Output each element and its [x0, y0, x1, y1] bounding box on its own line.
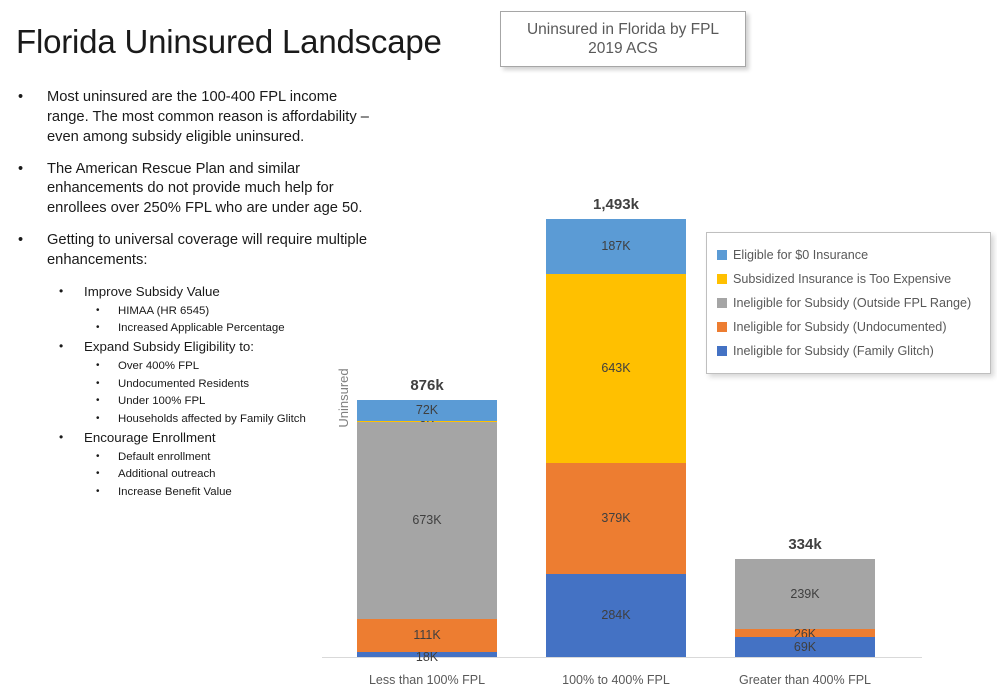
- bullet-dot-icon: •: [14, 338, 84, 354]
- bar-segment-label: 111K: [413, 629, 440, 642]
- bar-segment: 673K: [357, 422, 497, 619]
- x-axis-baseline: [322, 657, 922, 658]
- bullet-dot-icon: •: [14, 429, 84, 445]
- bullet-dot-icon: •: [14, 160, 47, 180]
- bar-segment: 18K: [357, 652, 497, 657]
- legend-label: Eligible for $0 Insurance: [733, 248, 868, 262]
- bullet-dot-icon: •: [14, 412, 118, 426]
- bar-segment-label: 18K: [416, 651, 438, 664]
- chart-title-line-2: 2019 ACS: [588, 39, 658, 58]
- bar-stack: 187K643K379K284K100% to 400% FPL: [546, 219, 686, 657]
- bullet-text: Additional outreach: [118, 467, 216, 482]
- x-axis-category-label: Greater than 400% FPL: [717, 673, 893, 687]
- bullet-dot-icon: •: [14, 231, 47, 251]
- legend-item[interactable]: Subsidized Insurance is Too Expensive: [717, 267, 990, 291]
- bar-segment: 284K: [546, 574, 686, 657]
- chart-title-line-1: Uninsured in Florida by FPL: [527, 20, 719, 39]
- bullet-dot-icon: •: [14, 88, 47, 108]
- bullet-dot-icon: •: [14, 394, 118, 408]
- bullet-item: •Most uninsured are the 100-400 FPL inco…: [14, 88, 374, 148]
- bullet-text: Increase Benefit Value: [118, 485, 232, 500]
- page-title: Florida Uninsured Landscape: [16, 23, 442, 61]
- bullet-text: Encourage Enrollment: [84, 429, 216, 447]
- bullet-text: Improve Subsidy Value: [84, 283, 220, 301]
- bullet-text: Over 400% FPL: [118, 359, 199, 374]
- bullet-dot-icon: •: [14, 359, 118, 373]
- legend-label: Ineligible for Subsidy (Outside FPL Rang…: [733, 296, 971, 310]
- bar-total-label: 876k: [357, 377, 497, 394]
- y-axis-title: Uninsured: [336, 348, 351, 448]
- bar-segment-label: 187K: [601, 240, 630, 253]
- bullet-text: Most uninsured are the 100-400 FPL incom…: [47, 88, 374, 148]
- bullet-dot-icon: •: [14, 283, 84, 299]
- chart-legend: Eligible for $0 InsuranceSubsidized Insu…: [706, 232, 991, 374]
- legend-label: Subsidized Insurance is Too Expensive: [733, 272, 951, 286]
- bullet-text: Increased Applicable Percentage: [118, 321, 285, 336]
- bullet-dot-icon: •: [14, 485, 118, 499]
- bar-total-label: 334k: [735, 536, 875, 553]
- legend-swatch-icon: [717, 250, 727, 260]
- bar-segment: 26K: [735, 629, 875, 637]
- legend-item[interactable]: Eligible for $0 Insurance: [717, 243, 990, 267]
- bullet-dot-icon: •: [14, 377, 118, 391]
- legend-swatch-icon: [717, 274, 727, 284]
- bullet-dot-icon: •: [14, 467, 118, 481]
- legend-label: Ineligible for Subsidy (Family Glitch): [733, 344, 934, 358]
- bar-segment-label: 379K: [601, 512, 630, 525]
- bullet-text: Households affected by Family Glitch: [118, 412, 306, 427]
- bar-segment: 187K: [546, 219, 686, 274]
- bar-segment: 72K: [357, 400, 497, 421]
- legend-item[interactable]: Ineligible for Subsidy (Outside FPL Rang…: [717, 291, 990, 315]
- bullet-dot-icon: •: [14, 450, 118, 464]
- bar-segment: 239K: [735, 559, 875, 629]
- legend-item[interactable]: Ineligible for Subsidy (Family Glitch): [717, 339, 990, 363]
- bar-segment-label: 72K: [416, 404, 438, 417]
- bar-segment: 643K: [546, 274, 686, 463]
- bullet-text: HIMAA (HR 6545): [118, 304, 209, 319]
- bullet-text: Undocumented Residents: [118, 377, 249, 392]
- legend-swatch-icon: [717, 346, 727, 356]
- bullet-text: Under 100% FPL: [118, 394, 205, 409]
- legend-label: Ineligible for Subsidy (Undocumented): [733, 320, 947, 334]
- bar-segment: 379K: [546, 463, 686, 574]
- chart-title-box: Uninsured in Florida by FPL 2019 ACS: [500, 11, 746, 67]
- bar-segment-label: 643K: [601, 362, 630, 375]
- x-axis-category-label: Less than 100% FPL: [339, 673, 515, 687]
- bar-segment-label: 284K: [601, 609, 630, 622]
- bullet-text: Expand Subsidy Eligibility to:: [84, 338, 254, 356]
- bar-segment-label: 673K: [412, 514, 441, 527]
- bar-stack: 72K2K673K111K18KLess than 100% FPL: [357, 400, 497, 657]
- bar-segment-label: 69K: [794, 641, 816, 654]
- bar-stack: 239K26K69KGreater than 400% FPL: [735, 559, 875, 657]
- bullet-text: Default enrollment: [118, 450, 210, 465]
- x-axis-category-label: 100% to 400% FPL: [528, 673, 704, 687]
- legend-item[interactable]: Ineligible for Subsidy (Undocumented): [717, 315, 990, 339]
- bar-segment: 111K: [357, 619, 497, 652]
- legend-swatch-icon: [717, 322, 727, 332]
- bullet-dot-icon: •: [14, 304, 118, 318]
- bar-segment: 69K: [735, 637, 875, 657]
- bullet-dot-icon: •: [14, 321, 118, 335]
- bar-segment-label: 239K: [790, 588, 819, 601]
- bar-total-label: 1,493k: [546, 196, 686, 213]
- legend-swatch-icon: [717, 298, 727, 308]
